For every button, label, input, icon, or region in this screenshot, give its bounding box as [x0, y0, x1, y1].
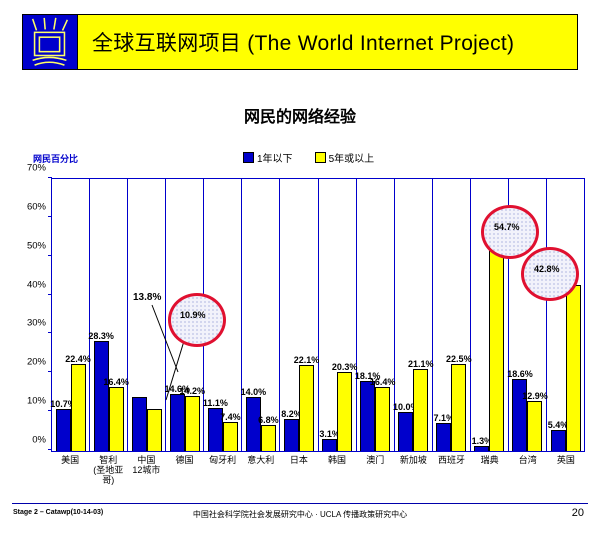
bar-5-years-or-more: 42.8% — [566, 285, 581, 451]
bar-value-label: 18.6% — [507, 369, 533, 379]
monitor-logo-icon — [22, 14, 78, 70]
bar-group: 10.7%22.4% — [52, 179, 90, 451]
y-axis-tick-label: 0% — [32, 435, 52, 446]
bar-value-label: 16.4% — [103, 377, 129, 387]
bar-under-1-year: 28.3% — [94, 341, 109, 451]
bar-under-1-year: 3.1% — [322, 439, 337, 451]
bar-5-years-or-more: 6.8% — [261, 425, 276, 451]
page-title: 全球互联网项目 (The World Internet Project) — [78, 14, 578, 70]
bar-group: 28.3%16.4% — [90, 179, 128, 451]
bar-under-1-year: 13.8% — [132, 397, 147, 451]
bar-value-label: 21.1% — [408, 359, 434, 369]
legend-label-under-1-year: 1年以下 — [257, 150, 293, 165]
footer-divider — [12, 503, 588, 504]
bar-under-1-year: 10.0% — [398, 412, 413, 451]
legend-item-5-years-or-more: 5年或以上 — [315, 150, 375, 165]
bar-5-years-or-more: 16.4% — [375, 387, 390, 451]
x-axis-label: 匈牙利 — [204, 455, 242, 485]
bar-value-label: 14.2% — [180, 386, 206, 396]
bar-group: 7.1%22.5% — [433, 179, 471, 451]
bar-group: 8.2%22.1% — [280, 179, 318, 451]
bar-5-years-or-more: 21.1% — [413, 369, 428, 451]
x-axis-label: 瑞典 — [471, 455, 509, 485]
y-axis-tick-label: 70% — [27, 163, 52, 174]
bar-group: 18.1%16.4% — [357, 179, 395, 451]
x-axis-label: 智利 (圣地亚哥) — [89, 455, 127, 485]
x-axis-label: 西班牙 — [432, 455, 470, 485]
bar-value-label: 7.4% — [220, 412, 241, 422]
bar-value-label: 11.1% — [203, 398, 228, 408]
bar-group: 10.0%21.1% — [395, 179, 433, 451]
bar-group: 14.0%6.8% — [242, 179, 280, 451]
bar-value-label: 16.4% — [370, 377, 396, 387]
x-axis-labels: 美国智利 (圣地亚哥)中国 12城市德国匈牙利意大利日本韩国澳门新加坡西班牙瑞典… — [51, 455, 585, 485]
y-axis-tick-label: 40% — [27, 279, 52, 290]
legend-label-5-years-or-more: 5年或以上 — [329, 150, 375, 165]
bar-group: 11.1%7.4% — [204, 179, 242, 451]
legend-item-under-1-year: 1年以下 — [243, 150, 293, 165]
y-axis-tick-label: 10% — [27, 396, 52, 407]
footer-page-number: 20 — [572, 507, 584, 519]
y-axis-tick-label: 60% — [27, 201, 52, 212]
x-axis-label: 中国 12城市 — [127, 455, 165, 485]
y-axis-tick-label: 20% — [27, 357, 52, 368]
bar-5-years-or-more: 54.7% — [489, 238, 504, 451]
x-axis-label: 英国 — [547, 455, 585, 485]
chart-legend: 1年以下 5年或以上 — [243, 150, 374, 165]
bar-groups: 10.7%22.4%28.3%16.4%13.8%10.9%14.6%14.2%… — [52, 179, 584, 451]
bar-under-1-year: 8.2% — [284, 419, 299, 451]
bar-5-years-or-more: 16.4% — [109, 387, 124, 451]
bar-under-1-year: 10.7% — [56, 409, 71, 451]
footer-center-text: 中国社会科学院社会发展研究中心 · UCLA 传播政策研究中心 — [0, 509, 600, 520]
y-axis-tick-label: 30% — [27, 318, 52, 329]
x-axis-label: 德国 — [165, 455, 203, 485]
bar-value-label: 22.5% — [446, 354, 472, 364]
x-axis-label: 日本 — [280, 455, 318, 485]
x-axis-label: 美国 — [51, 455, 89, 485]
chart-title: 网民的网络经验 — [0, 103, 600, 127]
legend-swatch-blue-icon — [243, 152, 254, 163]
x-axis-label: 意大利 — [242, 455, 280, 485]
y-axis-tick-label: 50% — [27, 240, 52, 251]
bar-5-years-or-more: 22.5% — [451, 364, 466, 451]
chart-plot-area: 0%10%20%30%40%50%60%70% 10.7%22.4%28.3%1… — [51, 178, 585, 452]
bar-under-1-year: 14.6% — [170, 394, 185, 451]
bar-value-label: 6.8% — [258, 415, 279, 425]
bar-group: 18.6%12.9% — [509, 179, 547, 451]
bar-under-1-year: 7.1% — [436, 423, 451, 451]
bar-value-label: 14.0% — [241, 387, 267, 397]
x-axis-label: 新加坡 — [394, 455, 432, 485]
x-axis-label: 澳门 — [356, 455, 394, 485]
bar-under-1-year: 5.4% — [551, 430, 566, 451]
title-banner: 全球互联网项目 (The World Internet Project) — [22, 14, 578, 70]
bar-5-years-or-more: 14.2% — [185, 396, 200, 451]
bar-group: 3.1%20.3% — [319, 179, 357, 451]
bar-value-label: 22.1% — [294, 355, 320, 365]
x-axis-label: 台湾 — [509, 455, 547, 485]
x-axis-label: 韩国 — [318, 455, 356, 485]
bar-5-years-or-more: 12.9% — [527, 401, 542, 451]
bar-under-1-year: 1.3% — [474, 446, 489, 451]
bar-5-years-or-more: 22.4% — [71, 364, 86, 451]
bar-5-years-or-more: 7.4% — [223, 422, 238, 451]
bar-value-label: 22.4% — [65, 354, 91, 364]
bar-group: 1.3%54.7% — [471, 179, 509, 451]
bar-group: 5.4%42.8% — [547, 179, 584, 451]
bar-under-1-year: 18.1% — [360, 381, 375, 451]
bar-group: 13.8%10.9% — [128, 179, 166, 451]
bar-group: 14.6%14.2% — [166, 179, 204, 451]
bar-value-label: 12.9% — [522, 391, 548, 401]
bar-value-label: 20.3% — [332, 362, 358, 372]
bar-5-years-or-more: 10.9% — [147, 409, 162, 451]
bar-5-years-or-more: 22.1% — [299, 365, 314, 451]
legend-swatch-yellow-icon — [315, 152, 326, 163]
bar-5-years-or-more: 20.3% — [337, 372, 352, 451]
bar-under-1-year: 18.6% — [512, 379, 527, 451]
bar-value-label: 28.3% — [88, 331, 114, 341]
y-axis-tick-mark — [48, 177, 52, 178]
